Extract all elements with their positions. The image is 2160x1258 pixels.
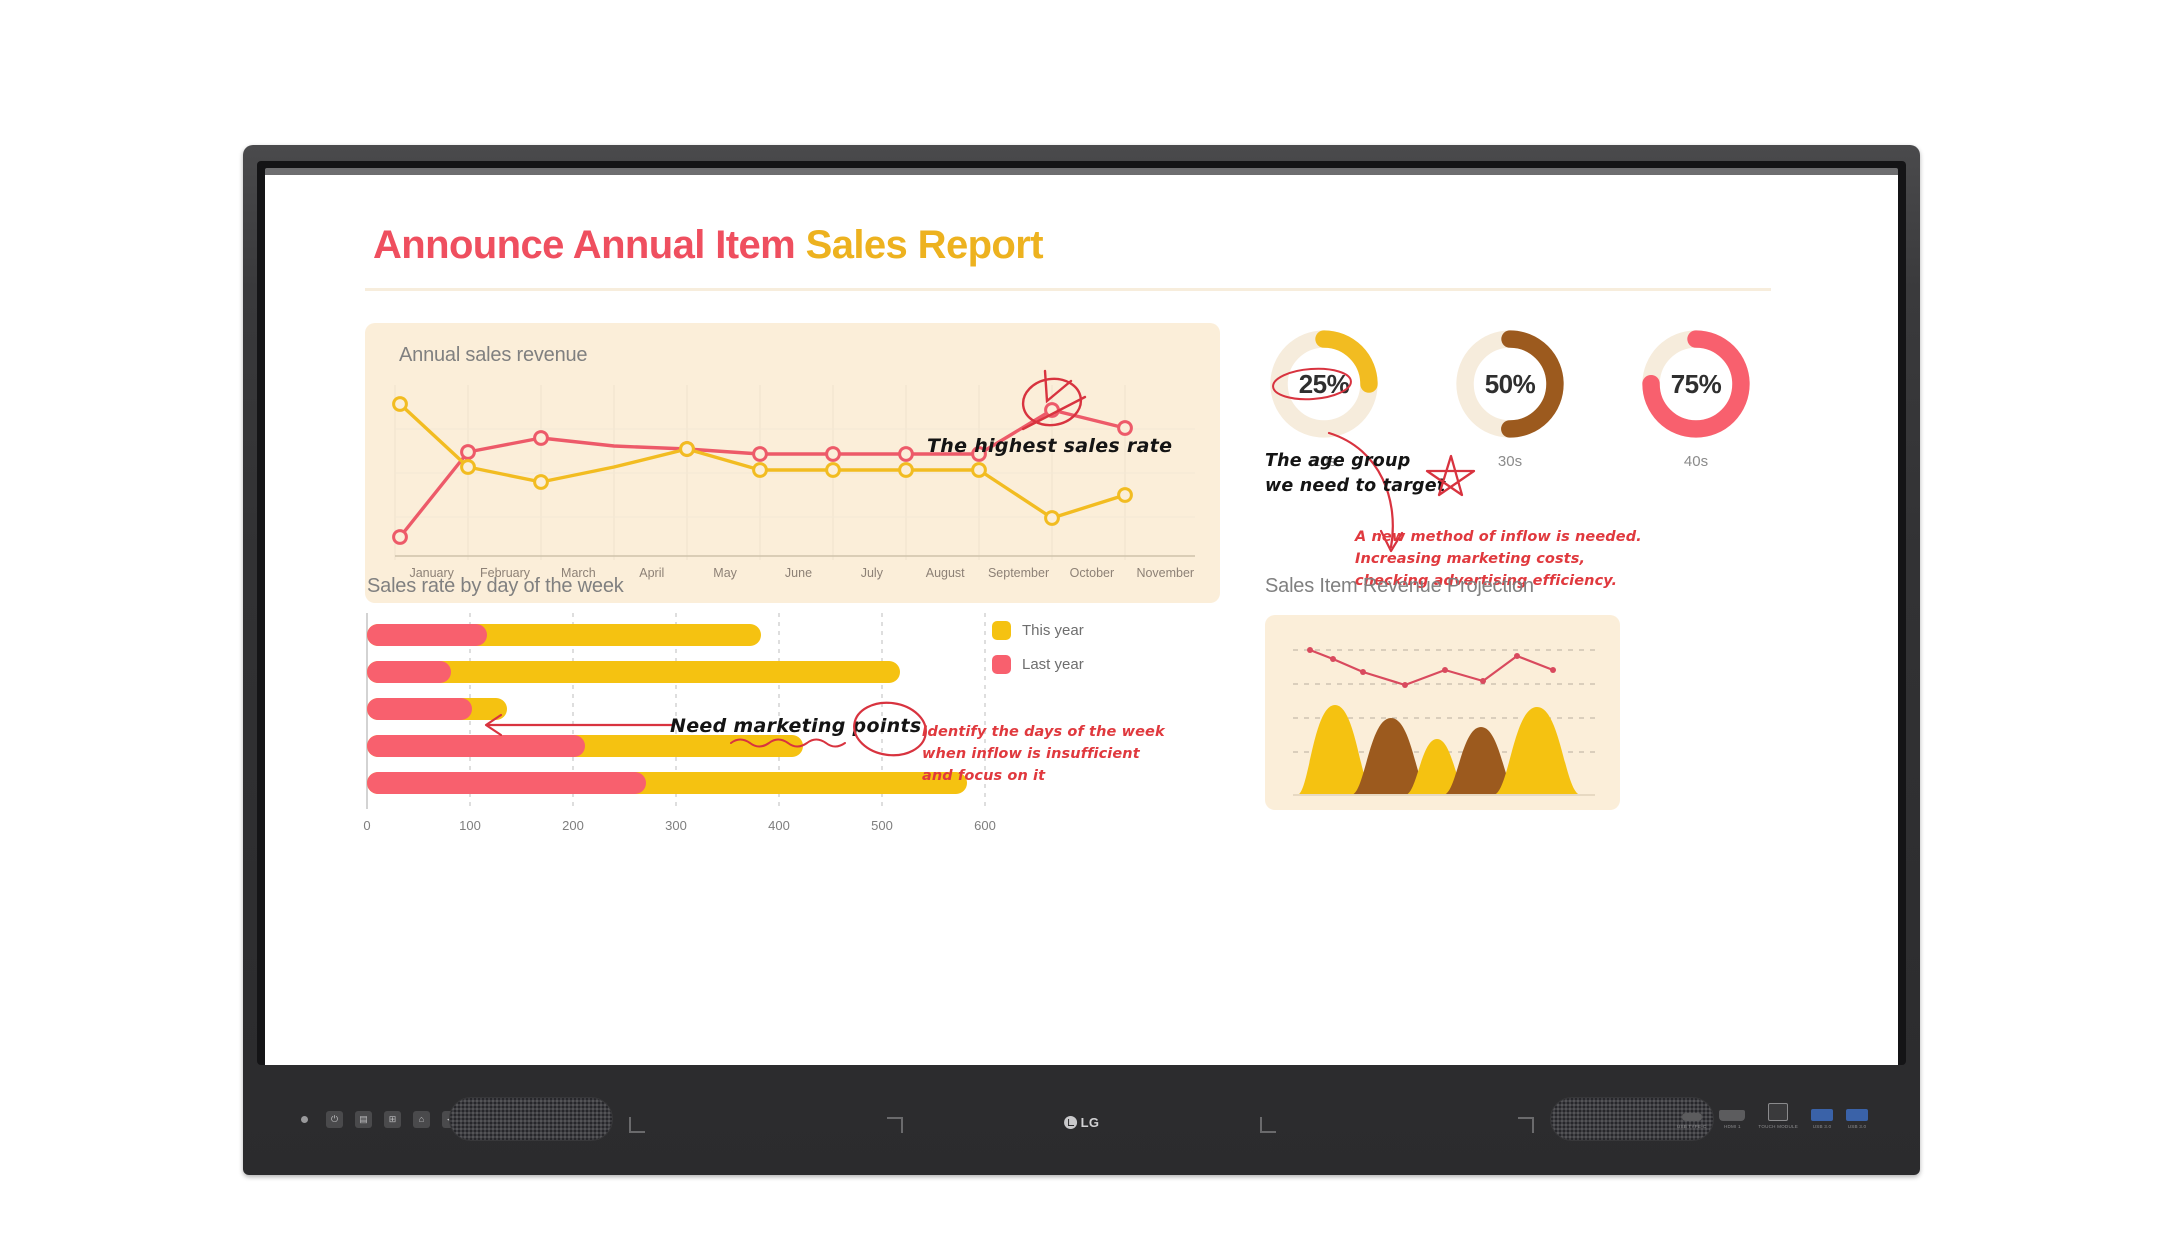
month-label: October	[1055, 566, 1128, 580]
hdmi-port-label: HDMI 1	[1724, 1124, 1741, 1129]
sales-item-revenue-projection-panel	[1265, 615, 1620, 810]
usb-a-port-2-label: USB 3.0	[1848, 1124, 1867, 1129]
month-label: August	[909, 566, 982, 580]
display-screen[interactable]: Announce Annual Item Sales Report Annual…	[265, 175, 1898, 1065]
bezel-corner-mark	[1518, 1117, 1534, 1133]
touch-module-icon	[1768, 1103, 1788, 1121]
donut-40s: 75% 40s	[1622, 325, 1770, 470]
display-bezel-inner: Announce Annual Item Sales Report Annual…	[257, 161, 1906, 1065]
month-label: July	[835, 566, 908, 580]
legend-swatch-this-year	[992, 621, 1011, 640]
bezel-corner-mark	[887, 1117, 903, 1133]
month-label: September	[982, 566, 1055, 580]
annotation-note-line: and focus on it	[922, 766, 1165, 788]
handwritten-star-icon	[1417, 451, 1487, 515]
month-label: April	[615, 566, 688, 580]
title-segment-accent: Sales Report	[806, 223, 1043, 267]
presentation-slide: Announce Annual Item Sales Report Annual…	[265, 175, 1898, 1065]
bar-chart-legend: This year Last year	[992, 621, 1084, 689]
usb-a-icon	[1846, 1109, 1868, 1121]
usb-c-icon	[1682, 1113, 1702, 1121]
lg-interactive-display: Announce Annual Item Sales Report Annual…	[243, 145, 1920, 1175]
lg-brand-text: LG	[1081, 1115, 1100, 1130]
bezel-corner-mark	[629, 1117, 645, 1133]
bar-x-tick: 200	[562, 818, 584, 833]
port-row: USB TYPE-C HDMI 1 TOUCH MODULE USB 3.0 U…	[1677, 1103, 1868, 1129]
input-button-icon[interactable]: ⊞	[384, 1111, 401, 1128]
title-segment-primary: Announce Annual Item	[373, 223, 806, 267]
month-label: May	[688, 566, 761, 580]
projection-line-markers	[1307, 647, 1556, 688]
bar-x-tick: 300	[665, 818, 687, 833]
bar-x-tick: 0	[363, 818, 370, 833]
annotation-highest-sales-rate: The highest sales rate	[927, 435, 1172, 457]
annual-sales-revenue-title: Annual sales revenue	[399, 344, 587, 367]
usb-c-port-label: USB TYPE-C	[1677, 1124, 1706, 1129]
lg-brand-logo: LG	[1064, 1115, 1100, 1130]
annotation-note-line: A new method of inflow is needed.	[1355, 527, 1642, 549]
revenue-projection-chart	[1265, 615, 1620, 810]
annotation-note-line: Increasing marketing costs,	[1355, 549, 1642, 571]
donut-30s: 50% 30s	[1436, 325, 1584, 470]
ir-sensor-icon	[301, 1116, 308, 1123]
donut-label-30s: 30s	[1498, 453, 1522, 470]
hdmi-port: HDMI 1	[1719, 1110, 1745, 1129]
bar-x-tick: 600	[974, 818, 996, 833]
legend-item-last-year: Last year	[992, 655, 1084, 674]
sales-rate-by-day-title: Sales rate by day of the week	[367, 575, 624, 598]
screenshot-stage: Announce Annual Item Sales Report Annual…	[0, 0, 2160, 1258]
bar-x-tick: 500	[871, 818, 893, 833]
legend-swatch-last-year	[992, 655, 1011, 674]
donut-label-40s: 40s	[1684, 453, 1708, 470]
grid-lines	[395, 385, 1195, 560]
power-button-icon[interactable]: ⏻	[326, 1111, 343, 1128]
annual-sales-revenue-line-chart	[395, 385, 1195, 560]
title-divider	[365, 288, 1771, 291]
usb-a-port-2: USB 3.0	[1846, 1109, 1868, 1129]
home-button-icon[interactable]: ⌂	[413, 1111, 430, 1128]
annual-sales-revenue-panel: Annual sales revenue	[365, 323, 1220, 603]
hdmi-icon	[1719, 1110, 1745, 1121]
legend-item-this-year: This year	[992, 621, 1084, 640]
page-title: Announce Annual Item Sales Report	[373, 223, 1043, 268]
sales-item-revenue-projection-title: Sales Item Revenue Projection	[1265, 575, 1534, 598]
annotation-note-line: when inflow is insufficient	[922, 744, 1165, 766]
usb-a-icon	[1811, 1109, 1833, 1121]
projection-peaks	[1293, 705, 1595, 795]
handwritten-circle-highlight	[1020, 371, 1085, 429]
lg-mark-icon	[1064, 1116, 1077, 1129]
bezel-corner-mark	[1260, 1117, 1276, 1133]
bar-x-tick: 100	[459, 818, 481, 833]
touch-port: TOUCH MODULE	[1758, 1103, 1798, 1129]
annotation-note-line: Identify the days of the week	[922, 722, 1165, 744]
handwritten-arrow-marketing	[477, 703, 677, 747]
annotation-identify-days-note: Identify the days of the week when inflo…	[922, 722, 1165, 787]
donut-value-40s: 75%	[1637, 325, 1755, 443]
menu-button-icon[interactable]: ▤	[355, 1111, 372, 1128]
month-label: June	[762, 566, 835, 580]
donut-value-30s: 50%	[1451, 325, 1569, 443]
month-label: November	[1129, 566, 1202, 580]
legend-label-this-year: This year	[1022, 622, 1084, 639]
legend-label-last-year: Last year	[1022, 656, 1084, 673]
usb-a-port-1: USB 3.0	[1811, 1109, 1833, 1129]
speaker-grille-left	[449, 1097, 613, 1141]
display-bottom-bezel: ⏻ ▤ ⊞ ⌂ ◀ ✎ LG USB TYPE-C	[243, 1063, 1920, 1175]
bar-x-tick: 400	[768, 818, 790, 833]
touch-port-label: TOUCH MODULE	[1758, 1124, 1798, 1129]
handwritten-underline-and-circle	[663, 707, 953, 759]
usb-c-port: USB TYPE-C	[1677, 1113, 1706, 1129]
usb-a-port-1-label: USB 3.0	[1813, 1124, 1832, 1129]
